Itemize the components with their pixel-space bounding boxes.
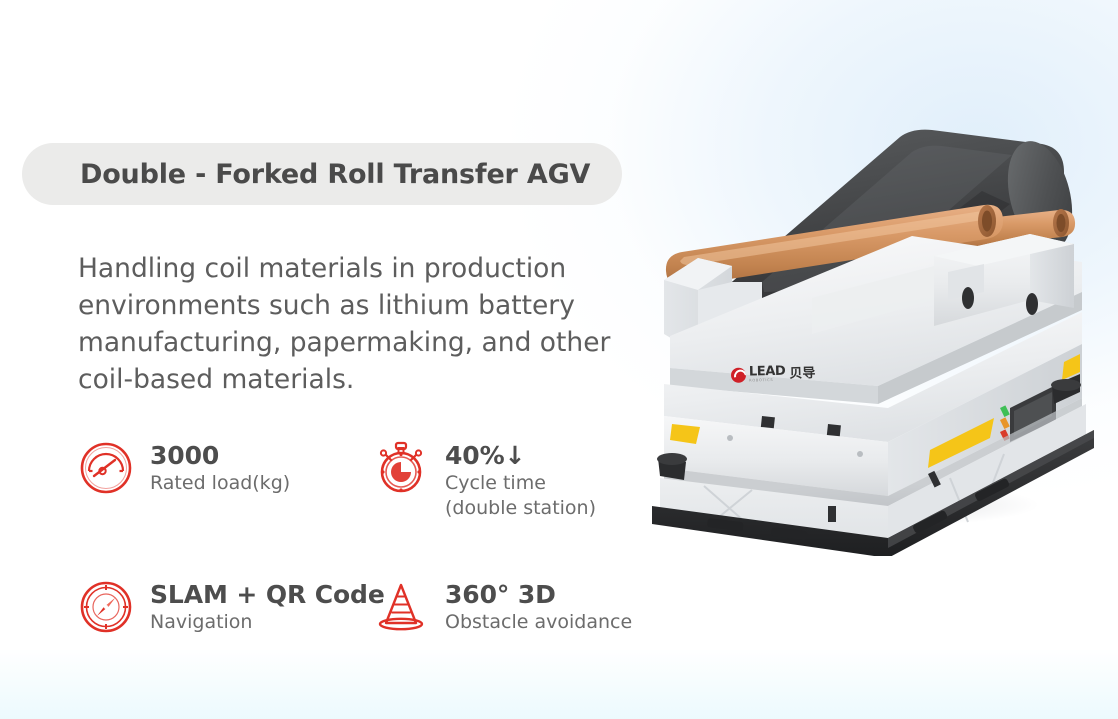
lead-logo-word: LEAD — [749, 366, 786, 379]
gauge-icon — [78, 440, 134, 496]
product-description: Handling coil materials in production en… — [78, 250, 638, 398]
stopwatch-icon — [373, 440, 429, 496]
compass-icon — [78, 579, 134, 635]
spec-value: 40%↓ — [445, 441, 596, 471]
spec-value: SLAM + QR Code — [150, 580, 385, 610]
spec-label: Cycle time — [445, 471, 596, 496]
brand-logo: LEAD ROBOTICS 贝导 — [731, 365, 816, 383]
spec-item-navigation: SLAM + QR Code Navigation — [78, 577, 373, 635]
spec-row: 3000 Rated load(kg) — [78, 438, 638, 521]
spec-value: 360° 3D — [445, 580, 632, 610]
spec-label-line2: (double station) — [445, 496, 596, 521]
spec-item-rated-load: 3000 Rated load(kg) — [78, 438, 373, 496]
spec-grid: 3000 Rated load(kg) — [78, 438, 638, 635]
spec-label: Rated load(kg) — [150, 471, 290, 496]
spec-label: Navigation — [150, 610, 385, 635]
spec-label: Obstacle avoidance — [445, 610, 632, 635]
product-image — [612, 86, 1118, 556]
lead-logo-mark — [731, 367, 746, 382]
content-column: Double - Forked Roll Transfer AGV Handli… — [0, 0, 660, 719]
lead-logo-chinese: 贝导 — [789, 367, 815, 381]
spec-text: 40%↓ Cycle time (double station) — [445, 438, 596, 521]
spec-text: 3000 Rated load(kg) — [150, 438, 290, 496]
spec-row: SLAM + QR Code Navigation 360° 3D — [78, 577, 638, 635]
spec-item-obstacle-avoidance: 360° 3D Obstacle avoidance — [373, 577, 638, 635]
page-title-pill: Double - Forked Roll Transfer AGV — [22, 143, 622, 205]
page-title: Double - Forked Roll Transfer AGV — [80, 159, 590, 190]
spec-item-cycle-time: 40%↓ Cycle time (double station) — [373, 438, 638, 521]
traffic-cone-icon — [373, 579, 429, 635]
spec-text: SLAM + QR Code Navigation — [150, 577, 385, 635]
spec-text: 360° 3D Obstacle avoidance — [445, 577, 632, 635]
spec-value: 3000 — [150, 441, 290, 471]
